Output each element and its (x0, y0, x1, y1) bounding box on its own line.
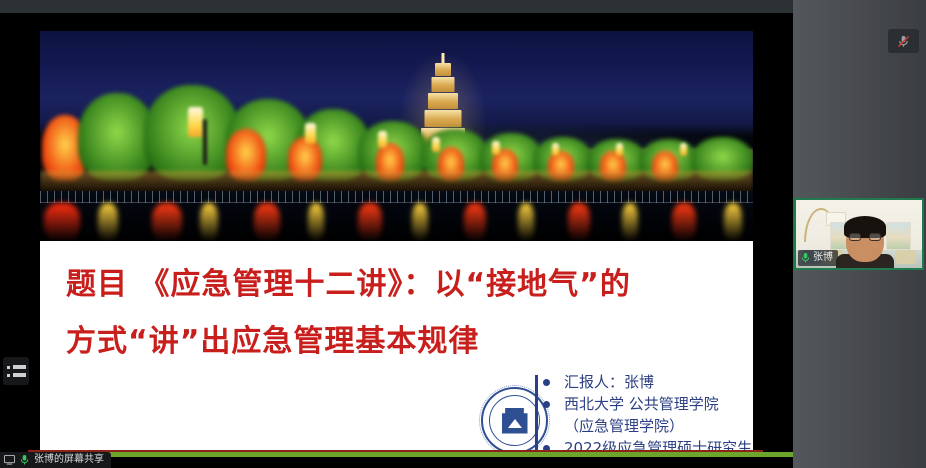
slide-photo-banner (40, 31, 753, 241)
slide-title: 题目 《应急管理十二讲》：以“接地气”的 方式“讲”出应急管理基本规律 (66, 256, 753, 370)
screen-share-label: 张博的屏幕共享 (0, 452, 111, 468)
presenter-accent-bar (535, 375, 538, 452)
bottom-filler (0, 457, 793, 468)
participant-name: 张博 (813, 250, 833, 266)
left-rail (0, 13, 40, 452)
screen-share-owner: 张博的屏幕共享 (34, 452, 104, 468)
presenter-lines: 汇报人：张博 西北大学 公共管理学院 （应急管理学院） 2022级应急管理硕士研… (542, 371, 752, 452)
window-top-strip (0, 0, 793, 13)
presenter-line: 汇报人：张博 (542, 371, 752, 393)
screen-share-icon (4, 455, 15, 465)
shared-screen-stage: 题目 《应急管理十二讲》：以“接地气”的 方式“讲”出应急管理基本规律 汇报人：… (0, 13, 793, 452)
participant-video-tile[interactable]: 张博 (794, 198, 924, 270)
presenter-line: 西北大学 公共管理学院 (542, 393, 752, 415)
water-railing (40, 191, 753, 203)
promenade-lights (40, 171, 753, 193)
presentation-slide: 题目 《应急管理十二讲》：以“接地气”的 方式“讲”出应急管理基本规律 汇报人：… (40, 31, 753, 452)
microphone-muted-icon[interactable] (888, 29, 919, 53)
slide-title-line-2: 方式“讲”出应急管理基本规律 (66, 313, 753, 370)
tree-band (40, 83, 753, 181)
water-reflection (40, 191, 753, 241)
microphone-icon (20, 454, 29, 466)
slide-title-line-1: 题目 《应急管理十二讲》：以“接地气”的 (66, 256, 753, 313)
app-root: 题目 《应急管理十二讲》：以“接地气”的 方式“讲”出应急管理基本规律 汇报人：… (0, 0, 926, 468)
participants-list-icon[interactable] (3, 357, 29, 385)
participant-name-chip: 张博 (798, 250, 838, 266)
presenter-line: （应急管理学院） (542, 415, 752, 437)
microphone-active-icon (801, 252, 810, 264)
